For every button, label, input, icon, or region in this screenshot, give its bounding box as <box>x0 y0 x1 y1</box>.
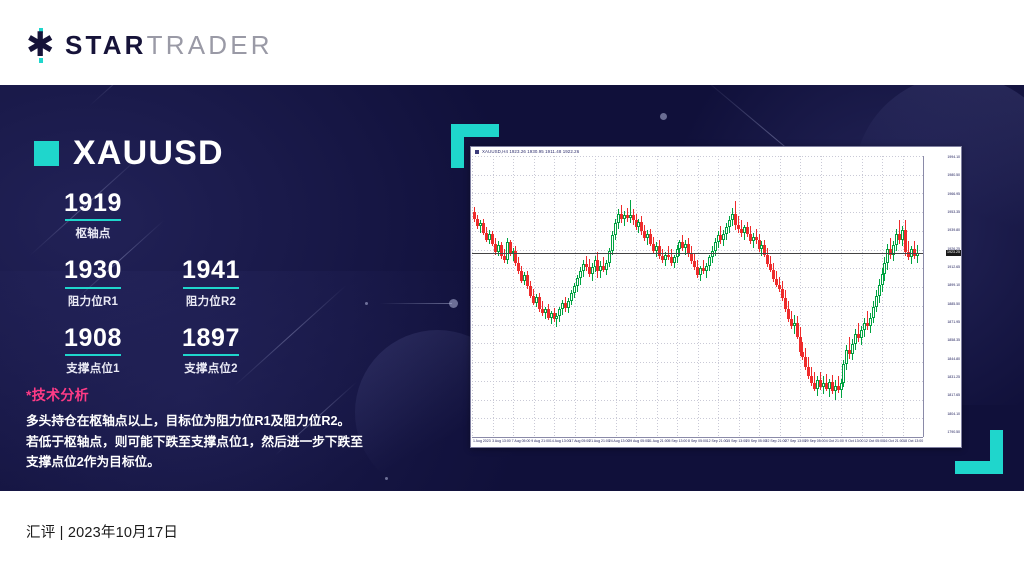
chart-header-bar: XAUUSD,H4 1923.26 1930.95 1911.48 1922.2… <box>471 147 961 156</box>
resistance-2-cell: 1941 阻力位R2 <box>152 257 270 308</box>
time-tick-label: 8 Sep 05:00 <box>688 440 707 444</box>
time-tick-label: 3 Aug 13:00 <box>492 440 511 444</box>
candle <box>916 156 919 437</box>
price-tick-label: 1844.80 <box>947 358 960 362</box>
time-tick-label: 4 Oct 21:00 <box>826 440 844 444</box>
time-tick-label: 5 Sep 13:00 <box>668 440 687 444</box>
brand-logo: ✱ STAR TRADER <box>26 28 273 62</box>
pivot-underline <box>65 354 121 356</box>
decorative-connector-line <box>380 303 452 304</box>
time-tick-label: 20 Sep 05:00 <box>746 440 767 444</box>
instrument-title: XAUUSD <box>34 134 224 173</box>
corner-bracket-bottom-right-icon <box>955 430 1003 474</box>
time-tick-label: 7 Aug 05:00 <box>512 440 531 444</box>
support-2-value: 1897 <box>152 325 270 351</box>
square-marker-icon <box>34 141 59 166</box>
pivot-row-support: 1908 支撑点位1 1897 支撑点位2 <box>34 325 274 392</box>
analysis-line-2: 若低于枢轴点，则可能下跌至支撑点位1，然后进一步下跌至 <box>26 432 406 453</box>
pivot-point-label: 枢轴点 <box>34 225 152 241</box>
price-tick-label: 1817.65 <box>947 394 960 398</box>
price-tick-label: 1912.65 <box>947 266 960 270</box>
footer-bar: 汇评 | 2023年10月17日 <box>0 491 1024 576</box>
time-tick-label: 9 Oct 13:00 <box>845 440 863 444</box>
pivot-underline <box>65 219 121 221</box>
pivot-underline <box>183 354 239 356</box>
logo-square-bottom-icon <box>39 58 43 63</box>
time-tick-label: 29 Sep 05:00 <box>805 440 826 444</box>
time-tick-label: 21 Aug 21:00 <box>589 440 610 444</box>
slide-root: ✱ STAR TRADER XAUUSD <box>0 0 1024 576</box>
chart-plot-wrapper: 1994.101980.501966.951953.351939.801926.… <box>471 156 961 447</box>
pivot-levels: 1919 枢轴点 1930 阻力位R1 1941 阻力位R2 1908 支撑点位… <box>34 190 274 392</box>
brand-name-light: TRADER <box>147 30 273 61</box>
candlestick-plot[interactable] <box>472 156 923 437</box>
logo-asterisk-glyph: ✱ <box>26 32 56 59</box>
price-tick-label: 1790.50 <box>947 431 960 435</box>
current-price-label: 1923.25 <box>946 250 961 255</box>
resistance-1-cell: 1930 阻力位R1 <box>34 257 152 308</box>
time-tick-label: 22 Sep 21:00 <box>766 440 787 444</box>
time-tick-label: 1 Aug 2023 <box>473 440 491 444</box>
price-tick-label: 1885.50 <box>947 303 960 307</box>
pivot-row-resistance: 1930 阻力位R1 1941 阻力位R2 <box>34 257 274 324</box>
support-2-label: 支撑点位2 <box>152 360 270 376</box>
pivot-point-value: 1919 <box>34 190 152 216</box>
decorative-dot <box>385 477 388 480</box>
brand-wordmark: STAR TRADER <box>65 30 273 61</box>
support-1-cell: 1908 支撑点位1 <box>34 325 152 376</box>
asterisk-logo-icon: ✱ <box>26 28 56 62</box>
decorative-dot <box>660 113 667 120</box>
analysis-line-3: 支撑点位2作为目标位。 <box>26 452 406 473</box>
support-2-cell: 1897 支撑点位2 <box>152 325 270 376</box>
price-tick-label: 1871.95 <box>947 321 960 325</box>
resistance-2-label: 阻力位R2 <box>152 293 270 309</box>
time-tick-label: 16 Oct 21:00 <box>884 440 904 444</box>
time-tick-label: 12 Sep 21:00 <box>707 440 728 444</box>
analysis-line-1: 多头持仓在枢轴点以上，目标位为阻力位R1及阻力位R2。 <box>26 411 406 432</box>
analysis-heading: *技术分析 <box>26 385 406 405</box>
price-tick-label: 1994.10 <box>947 156 960 160</box>
time-tick-label: 27 Sep 13:00 <box>785 440 806 444</box>
chart-symbol-icon <box>475 150 479 154</box>
time-tick-label: 15 Sep 13:00 <box>726 440 747 444</box>
time-axis[interactable]: 1 Aug 20233 Aug 13:007 Aug 05:009 Aug 21… <box>472 437 923 447</box>
support-1-value: 1908 <box>34 325 152 351</box>
time-tick-label: 17 Aug 05:00 <box>570 440 591 444</box>
page-title: XAUUSD <box>73 134 224 173</box>
time-tick-label: 12 Oct 05:00 <box>864 440 884 444</box>
price-tick-label: 1899.10 <box>947 284 960 288</box>
price-tick-label: 1939.80 <box>947 229 960 233</box>
price-tick-label: 1953.35 <box>947 211 960 215</box>
price-tick-label: 1831.25 <box>947 376 960 380</box>
footer-caption: 汇评 | 2023年10月17日 <box>26 521 178 542</box>
header-bar: ✱ STAR TRADER <box>0 0 1024 85</box>
pivot-point-cell: 1919 枢轴点 <box>34 190 152 241</box>
time-tick-label: 18 Oct 13:00 <box>903 440 923 444</box>
brand-name-bold: STAR <box>65 30 147 61</box>
price-axis[interactable]: 1994.101980.501966.951953.351939.801926.… <box>923 156 961 437</box>
price-tick-label: 1858.35 <box>947 339 960 343</box>
resistance-2-value: 1941 <box>152 257 270 283</box>
technical-analysis: *技术分析 多头持仓在枢轴点以上，目标位为阻力位R1及阻力位R2。 若低于枢轴点… <box>26 385 406 473</box>
support-1-label: 支撑点位1 <box>34 360 152 376</box>
chart-window[interactable]: XAUUSD,H4 1923.26 1930.95 1911.48 1922.2… <box>470 146 962 448</box>
time-tick-label: 31 Aug 21:00 <box>648 440 669 444</box>
price-tick-label: 1804.10 <box>947 413 960 417</box>
pivot-underline <box>65 287 121 289</box>
time-tick-label: 9 Aug 21:00 <box>531 440 550 444</box>
chart-header-title: XAUUSD,H4 1923.26 1930.95 1911.48 1922.2… <box>482 149 579 154</box>
resistance-1-value: 1930 <box>34 257 152 283</box>
time-tick-label: 24 Aug 13:00 <box>609 440 630 444</box>
current-price-line <box>472 253 923 254</box>
resistance-1-label: 阻力位R1 <box>34 293 152 309</box>
decorative-dot <box>365 302 368 305</box>
price-tick-label: 1966.95 <box>947 193 960 197</box>
time-tick-label: 14 Aug 13:00 <box>550 440 571 444</box>
time-tick-label: 29 Aug 05:00 <box>628 440 649 444</box>
pivot-underline <box>183 287 239 289</box>
pivot-row-main: 1919 枢轴点 <box>34 190 274 257</box>
price-tick-label: 1980.50 <box>947 174 960 178</box>
